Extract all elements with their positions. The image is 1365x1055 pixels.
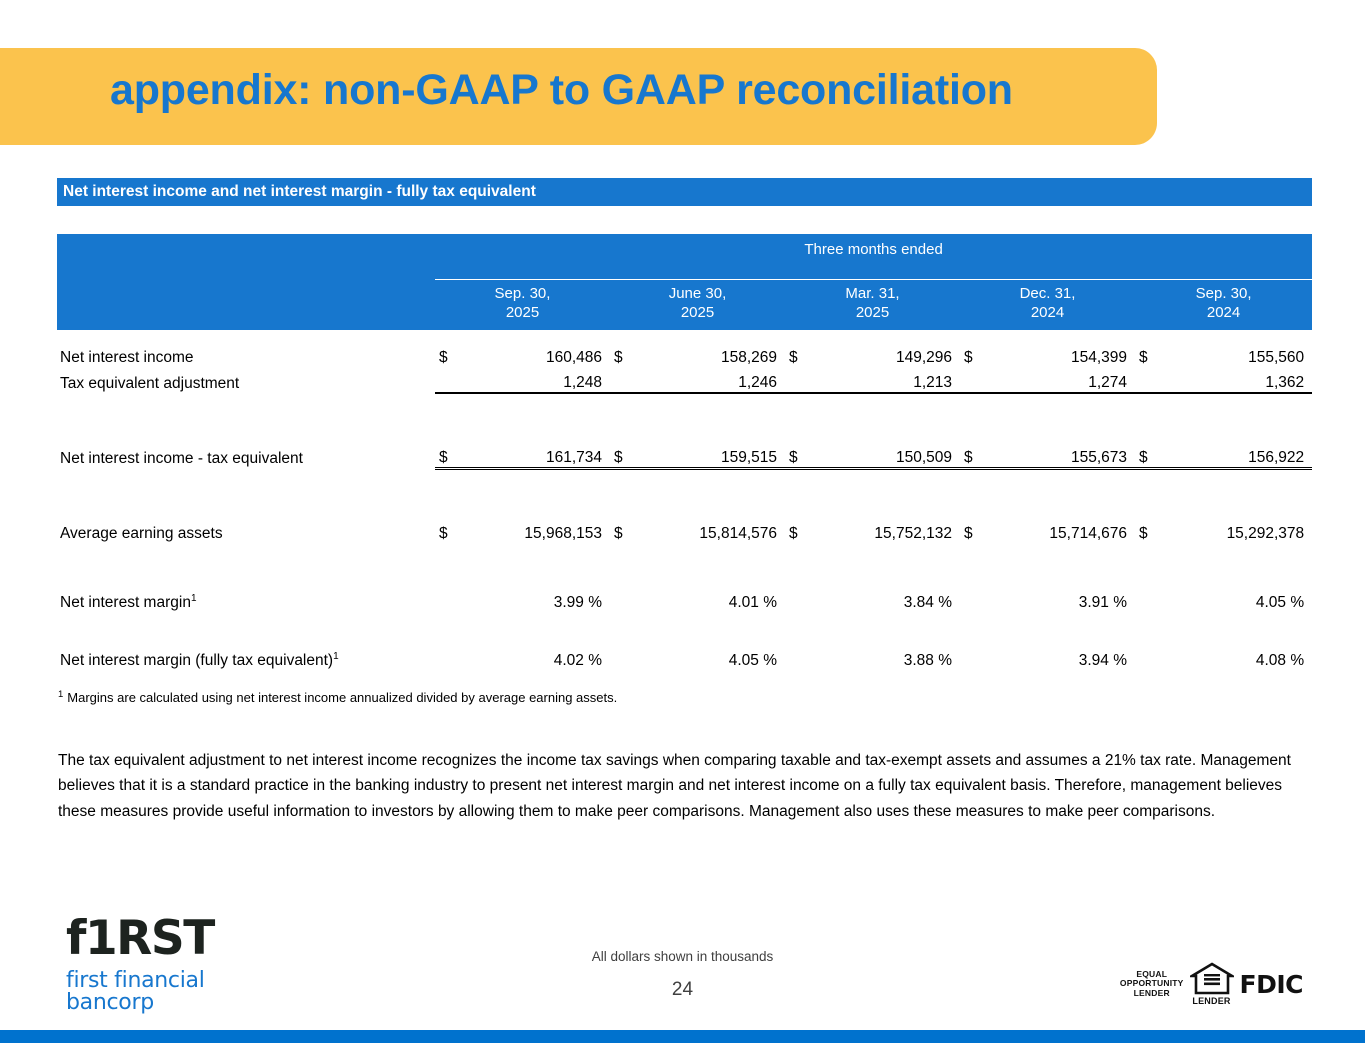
row-5-value-0: 4.02 %: [465, 645, 610, 670]
row-2-value-4: 156,922: [1165, 442, 1312, 469]
table-spacer-row-4: [57, 612, 1312, 645]
row-4-value-1: 4.01 %: [640, 587, 785, 612]
row-4-value-3: 3.91 %: [990, 587, 1135, 612]
financial-table-container: Three months ended Sep. 30, 2025 June 30…: [57, 234, 1312, 670]
column-header-4: Sep. 30, 2024: [1135, 279, 1312, 330]
row-2-value-3: 155,673: [990, 442, 1135, 469]
equal-housing-lender-logo: LENDER: [1190, 962, 1234, 1006]
row-1-value-4: 1,362: [1165, 367, 1312, 393]
row-2-value-0: 161,734: [465, 442, 610, 469]
row-5-currency-1: [610, 645, 640, 670]
row-3-value-3: 15,714,676: [990, 518, 1135, 543]
fdic-logo: FDIC: [1240, 970, 1303, 999]
row-0-currency-1: $: [610, 342, 640, 367]
compliance-logos: EQUAL OPPORTUNITY LENDER LENDER FDIC: [1120, 962, 1303, 1006]
row-4-value-2: 3.84 %: [815, 587, 960, 612]
row-5-value-4: 4.08 %: [1165, 645, 1312, 670]
column-header-1: June 30, 2025: [610, 279, 785, 330]
column-header-2-line1: Mar. 31,: [785, 284, 960, 303]
row-4-currency-2: [785, 587, 815, 612]
column-header-3-line1: Dec. 31,: [960, 284, 1135, 303]
column-header-0-line1: Sep. 30,: [435, 284, 610, 303]
row-label-2: Net interest income - tax equivalent: [57, 442, 435, 469]
row-0-value-4: 155,560: [1165, 342, 1312, 367]
table-row: Net interest margin (fully tax equivalen…: [57, 645, 1312, 670]
table-spacer-row-2: [57, 468, 1312, 518]
column-header-0: Sep. 30, 2025: [435, 279, 610, 330]
row-0-currency-4: $: [1135, 342, 1165, 367]
table-spacer-row-1: [57, 393, 1312, 442]
row-3-currency-0: $: [435, 518, 465, 543]
row-3-currency-3: $: [960, 518, 990, 543]
equal-housing-lender-label: LENDER: [1192, 997, 1230, 1006]
column-header-0-line2: 2025: [435, 303, 610, 322]
row-1-value-2: 1,213: [815, 367, 960, 393]
row-4-currency-3: [960, 587, 990, 612]
row-5-currency-4: [1135, 645, 1165, 670]
row-3-currency-2: $: [785, 518, 815, 543]
row-0-value-2: 149,296: [815, 342, 960, 367]
table-column-header-row: Sep. 30, 2025 June 30, 2025 Mar. 31, 202…: [57, 279, 1312, 330]
row-label-1: Tax equivalent adjustment: [57, 367, 435, 393]
section-header-bar: Net interest income and net interest mar…: [57, 178, 1312, 206]
column-header-4-line2: 2024: [1135, 303, 1312, 322]
row-1-currency-0: [435, 367, 465, 393]
row-1-value-0: 1,248: [465, 367, 610, 393]
row-3-currency-1: $: [610, 518, 640, 543]
row-0-value-3: 154,399: [990, 342, 1135, 367]
column-header-2-line2: 2025: [785, 303, 960, 322]
row-2-currency-4: $: [1135, 442, 1165, 469]
row-4-currency-0: [435, 587, 465, 612]
column-header-3: Dec. 31, 2024: [960, 279, 1135, 330]
column-header-1-line2: 2025: [610, 303, 785, 322]
equal-opportunity-line-3: LENDER: [1120, 989, 1184, 999]
row-0-currency-0: $: [435, 342, 465, 367]
row-5-value-1: 4.05 %: [640, 645, 785, 670]
row-label-5: Net interest margin (fully tax equivalen…: [57, 645, 435, 670]
row-2-value-1: 159,515: [640, 442, 785, 469]
row-0-currency-2: $: [785, 342, 815, 367]
row-1-value-1: 1,246: [640, 367, 785, 393]
row-1-currency-3: [960, 367, 990, 393]
row-5-currency-0: [435, 645, 465, 670]
table-spacer-row-0: [57, 330, 1312, 342]
row-4-value-0: 3.99 %: [465, 587, 610, 612]
group-header-label: Three months ended: [435, 234, 1312, 261]
row-3-value-1: 15,814,576: [640, 518, 785, 543]
table-group-header-row: Three months ended: [57, 234, 1312, 261]
row-2-currency-2: $: [785, 442, 815, 469]
row-1-currency-2: [785, 367, 815, 393]
row-2-value-2: 150,509: [815, 442, 960, 469]
group-header-rule: [435, 261, 1312, 279]
financial-table: Three months ended Sep. 30, 2025 June 30…: [57, 234, 1312, 670]
row-5-label-text: Net interest margin (fully tax equivalen…: [60, 652, 333, 669]
bottom-accent-strip: [0, 1030, 1365, 1043]
row-2-currency-3: $: [960, 442, 990, 469]
table-footnote: 1Margins are calculated using net intere…: [58, 690, 617, 705]
table-spacer-row-3: [57, 543, 1312, 587]
column-header-3-line2: 2024: [960, 303, 1135, 322]
row-3-currency-4: $: [1135, 518, 1165, 543]
row-5-currency-3: [960, 645, 990, 670]
row-2-currency-0: $: [435, 442, 465, 469]
row-5-value-3: 3.94 %: [990, 645, 1135, 670]
table-row: Net interest income - tax equivalent $ 1…: [57, 442, 1312, 469]
footnote-text: Margins are calculated using net interes…: [67, 690, 617, 705]
row-0-value-0: 160,486: [465, 342, 610, 367]
row-label-4: Net interest margin1: [57, 587, 435, 612]
table-row: Net interest margin1 3.99 % 4.01 % 3.84 …: [57, 587, 1312, 612]
table-row: Tax equivalent adjustment 1,248 1,246 1,…: [57, 367, 1312, 393]
table-group-header-rule-row: [57, 261, 1312, 279]
row-4-value-4: 4.05 %: [1165, 587, 1312, 612]
row-0-value-1: 158,269: [640, 342, 785, 367]
row-label-0: Net interest income: [57, 342, 435, 367]
row-label-3: Average earning assets: [57, 518, 435, 543]
equal-opportunity-lender-text: EQUAL OPPORTUNITY LENDER: [1120, 970, 1184, 999]
explanatory-paragraph: The tax equivalent adjustment to net int…: [58, 748, 1306, 824]
row-3-value-0: 15,968,153: [465, 518, 610, 543]
row-5-currency-2: [785, 645, 815, 670]
column-header-4-line1: Sep. 30,: [1135, 284, 1312, 303]
row-4-label-text: Net interest margin: [60, 594, 191, 611]
row-4-currency-1: [610, 587, 640, 612]
page-title: appendix: non-GAAP to GAAP reconciliatio…: [110, 66, 1150, 115]
row-3-value-2: 15,752,132: [815, 518, 960, 543]
table-row: Average earning assets $ 15,968,153 $ 15…: [57, 518, 1312, 543]
table-row: Net interest income $ 160,486 $ 158,269 …: [57, 342, 1312, 367]
row-5-footnote-marker: 1: [333, 651, 339, 662]
equal-housing-house-icon: [1190, 962, 1234, 996]
row-1-currency-1: [610, 367, 640, 393]
column-header-2: Mar. 31, 2025: [785, 279, 960, 330]
row-4-currency-4: [1135, 587, 1165, 612]
footnote-marker: 1: [58, 689, 63, 700]
row-3-value-4: 15,292,378: [1165, 518, 1312, 543]
row-4-footnote-marker: 1: [191, 593, 197, 604]
row-0-currency-3: $: [960, 342, 990, 367]
row-1-currency-4: [1135, 367, 1165, 393]
row-5-value-2: 3.88 %: [815, 645, 960, 670]
section-header-label: Net interest income and net interest mar…: [63, 183, 536, 201]
row-1-value-3: 1,274: [990, 367, 1135, 393]
column-header-1-line1: June 30,: [610, 284, 785, 303]
row-2-currency-1: $: [610, 442, 640, 469]
